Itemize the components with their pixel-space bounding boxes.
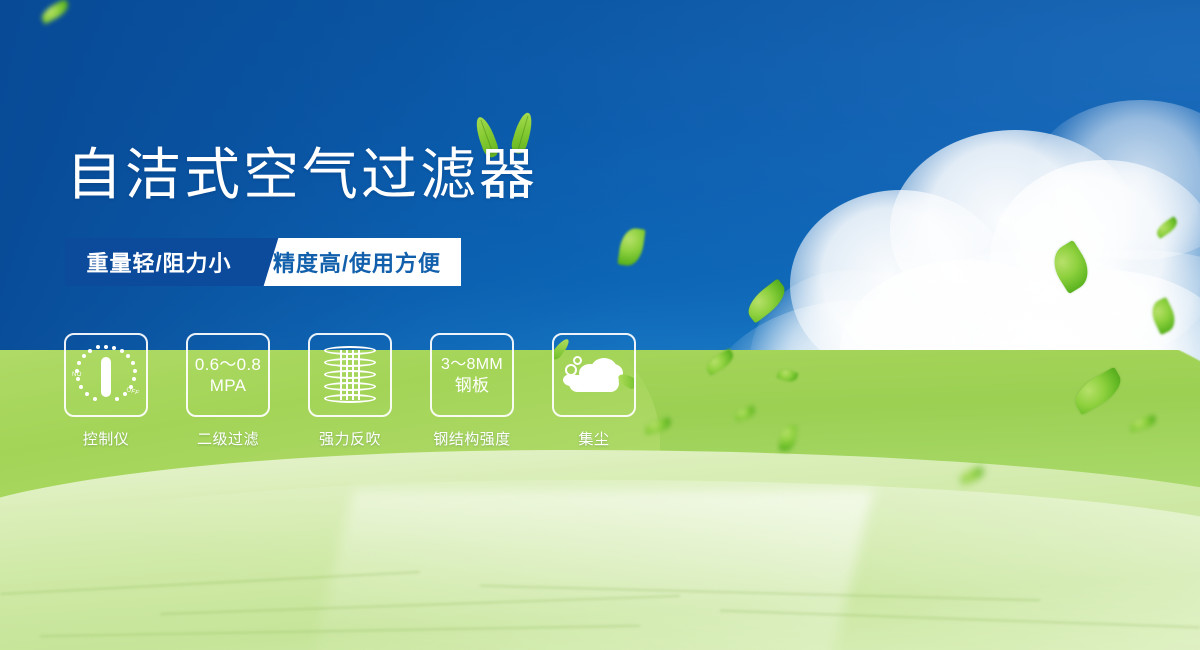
control-dial-icon: NO OFF xyxy=(74,345,138,405)
banner-stage: 自洁式空气过滤器 重量轻/阻力小 精度高/使用方便 xyxy=(0,0,1200,650)
subtitle-right: 精度高/使用方便 xyxy=(253,238,461,286)
pressure-value-line1: 0.6～0.8 xyxy=(195,354,261,375)
feature-item-two-stage-filter[interactable]: 0.6～0.8 MPA 二级过滤 xyxy=(186,333,270,449)
dial-on-label: NO xyxy=(72,372,82,378)
feature-label: 集尘 xyxy=(578,428,609,449)
feature-item-dust-collection[interactable]: Air 集尘 xyxy=(552,333,636,449)
steel-value-line2: 钢板 xyxy=(455,375,490,396)
feature-list: NO OFF 控制仪 0.6～0.8 MPA 二级过滤 xyxy=(64,333,636,449)
steel-value-line1: 3～8MM xyxy=(441,354,503,375)
feature-icon-box: 0.6～0.8 MPA xyxy=(186,333,270,417)
feature-icon-box: 3～8MM 钢板 xyxy=(430,333,514,417)
feature-label: 二级过滤 xyxy=(197,428,259,449)
feature-item-steel-strength[interactable]: 3～8MM 钢板 钢结构强度 xyxy=(430,333,514,449)
pressure-value-line2: MPA xyxy=(210,375,246,396)
page-title: 自洁式空气过滤器 xyxy=(66,143,538,207)
subtitle-left: 重量轻/阻力小 xyxy=(65,238,253,286)
air-cloud-icon: Air xyxy=(563,352,625,398)
dial-off-label: OFF xyxy=(125,387,139,397)
subtitle-bar: 重量轻/阻力小 精度高/使用方便 xyxy=(65,238,461,286)
feature-item-controller[interactable]: NO OFF 控制仪 xyxy=(64,333,148,449)
feature-item-strong-blowback[interactable]: 强力反吹 xyxy=(308,333,392,449)
feature-label: 控制仪 xyxy=(83,428,130,449)
feature-label: 强力反吹 xyxy=(319,428,381,449)
filter-coil-icon xyxy=(324,346,376,404)
feature-icon-box: NO OFF xyxy=(64,333,148,417)
feature-label: 钢结构强度 xyxy=(433,428,511,449)
feature-icon-box xyxy=(308,333,392,417)
feature-icon-box: Air xyxy=(552,333,636,417)
air-label: Air xyxy=(563,383,625,395)
banner-content: 自洁式空气过滤器 重量轻/阻力小 精度高/使用方便 xyxy=(0,0,1200,650)
